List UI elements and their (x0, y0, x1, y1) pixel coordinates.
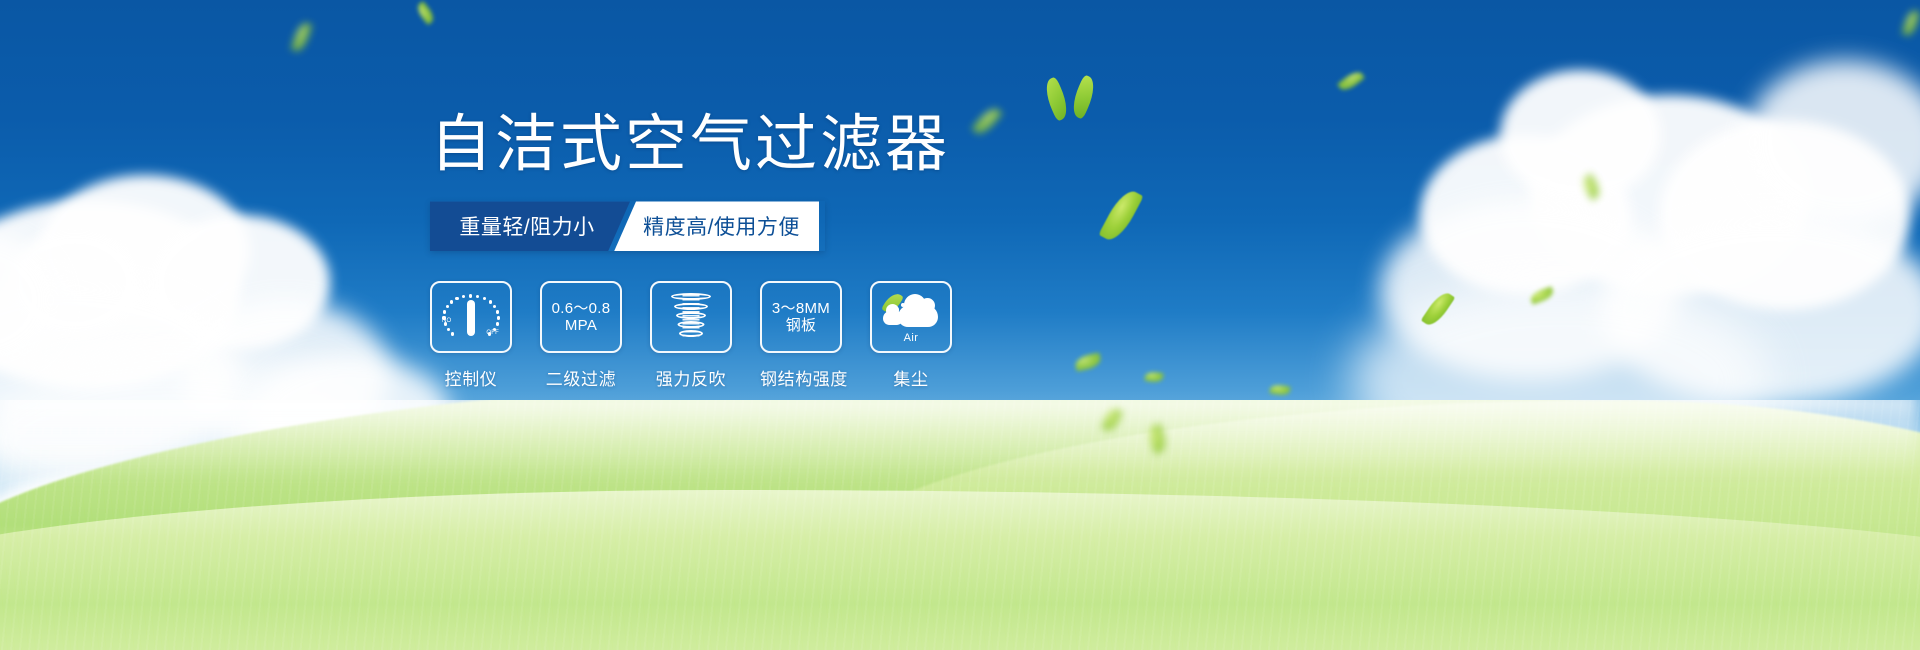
air-cloud-icon: Air (882, 293, 940, 341)
title-sprout-leaves (1042, 74, 1102, 124)
feature-icon-box: 0.6～0.8 MPA (540, 281, 622, 353)
feature-item-controller[interactable]: NO OFF 控制仪 (430, 281, 512, 390)
gauge-needle (467, 300, 475, 336)
feature-icon-row: NO OFF 控制仪 0.6～0.8 MPA 二级过滤 (430, 281, 1130, 390)
grass-horizon-glow (0, 400, 1920, 480)
tag-weight-resistance[interactable]: 重量轻/阻力小 (430, 201, 630, 251)
feature-tag-bar: 重量轻/阻力小 精度高/使用方便 (430, 201, 825, 251)
feature-item-strong-backblow[interactable]: 强力反吹 (650, 281, 732, 390)
pressure-value-line1: 0.6～0.8 (552, 300, 611, 318)
filter-cartridge-icon (668, 291, 714, 343)
banner-title: 自洁式空气过滤器 (430, 110, 1130, 179)
tag-precision-convenience[interactable]: 精度高/使用方便 (614, 201, 819, 251)
feature-caption: 强力反吹 (650, 365, 732, 390)
feature-icon-box: NO OFF (430, 281, 512, 353)
banner-content: 自洁式空气过滤器 重量轻/阻力小 精度高/使用方便 (430, 110, 1130, 390)
banner-title-text: 自洁式空气过滤器 (430, 110, 950, 179)
air-label: Air (882, 332, 940, 344)
steel-thickness-line2: 钢板 (786, 317, 817, 335)
leaf-icon (1040, 76, 1073, 121)
feature-caption: 集尘 (870, 365, 952, 390)
leaf-icon (1067, 74, 1100, 119)
feature-caption: 控制仪 (430, 365, 512, 390)
gauge-label-off: OFF (486, 330, 499, 336)
gauge-label-on: NO (442, 318, 451, 324)
pressure-value-line2: MPA (565, 317, 597, 335)
feature-item-steel-strength[interactable]: 3～8MM 钢板 钢结构强度 (760, 281, 842, 390)
feature-icon-box (650, 281, 732, 353)
feature-icon-box: 3～8MM 钢板 (760, 281, 842, 353)
steel-thickness-line1: 3～8MM (772, 300, 830, 318)
grass-field (0, 400, 1920, 650)
product-hero-banner: 自洁式空气过滤器 重量轻/阻力小 精度高/使用方便 (0, 0, 1920, 650)
feature-item-two-stage-filtration[interactable]: 0.6～0.8 MPA 二级过滤 (540, 281, 622, 390)
feature-caption: 二级过滤 (540, 365, 622, 390)
feature-icon-box: Air (870, 281, 952, 353)
feature-caption: 钢结构强度 (760, 365, 842, 390)
gauge-icon: NO OFF (443, 293, 499, 341)
feature-item-dust-collection[interactable]: Air 集尘 (870, 281, 952, 390)
